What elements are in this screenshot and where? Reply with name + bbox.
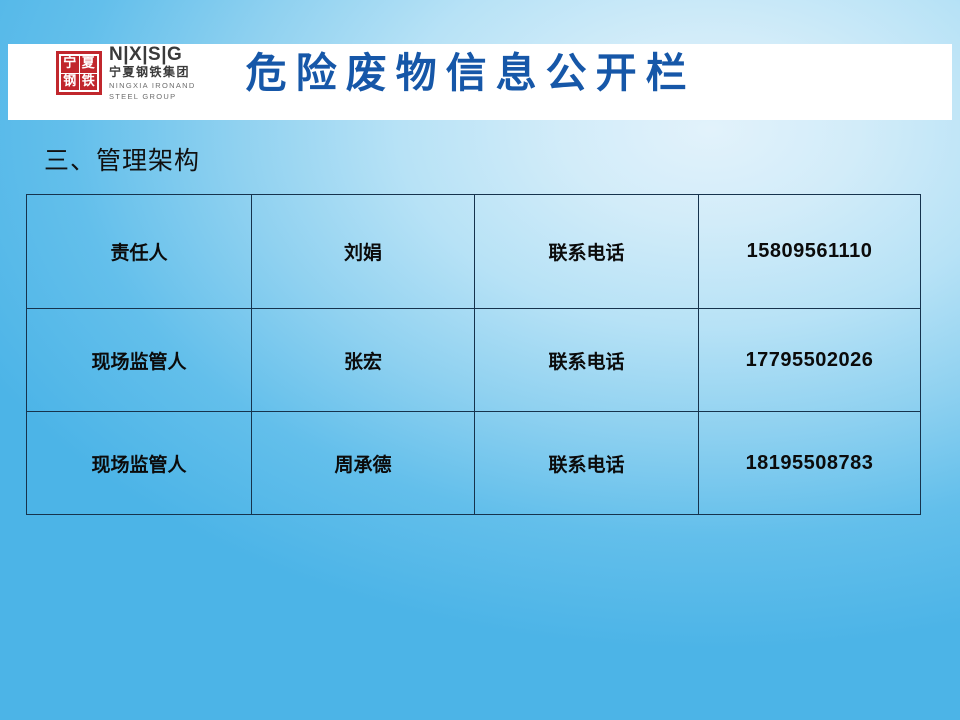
company-seal-icon: 宁 夏 钢 铁 (56, 51, 102, 95)
cell-role: 现场监管人 (27, 309, 252, 412)
section-heading: 三、管理架构 (44, 144, 200, 178)
cell-phone-label: 联系电话 (475, 412, 699, 515)
cell-role: 现场监管人 (27, 412, 252, 515)
logo-brand-english-line2: STEEL GROUP (109, 92, 196, 101)
cell-phone-number: 15809561110 (699, 195, 921, 309)
management-structure-table: 责任人 刘娟 联系电话 15809561110 现场监管人 张宏 联系电话 17… (26, 194, 921, 515)
cell-phone-number: 18195508783 (699, 412, 921, 515)
slide-canvas: 宁 夏 钢 铁 N|X|S|G 宁夏钢铁集团 NINGXIA IRONAND S… (0, 0, 960, 720)
table-row: 责任人 刘娟 联系电话 15809561110 (27, 195, 921, 309)
banner-content-row: 宁 夏 钢 铁 N|X|S|G 宁夏钢铁集团 NINGXIA IRONAND S… (8, 44, 952, 102)
table-row: 现场监管人 张宏 联系电话 17795502026 (27, 309, 921, 412)
cell-person: 刘娟 (252, 195, 475, 309)
cell-phone-label: 联系电话 (475, 195, 699, 309)
table-row: 现场监管人 周承德 联系电话 18195508783 (27, 412, 921, 515)
cell-role: 责任人 (27, 195, 252, 309)
seal-char-3: 钢 (61, 74, 79, 91)
cell-phone-label: 联系电话 (475, 309, 699, 412)
logo-brand-latin: N|X|S|G (109, 45, 196, 64)
banner-title: 危险废物信息公开栏 (246, 49, 696, 97)
seal-char-4: 铁 (80, 74, 98, 91)
logo-brand-english-line1: NINGXIA IRONAND (109, 81, 196, 90)
cell-person: 张宏 (252, 309, 475, 412)
seal-char-2: 夏 (80, 56, 98, 73)
cell-person: 周承德 (252, 412, 475, 515)
logo-brand-chinese: 宁夏钢铁集团 (109, 65, 196, 79)
logo-text-block: N|X|S|G 宁夏钢铁集团 NINGXIA IRONAND STEEL GRO… (109, 45, 196, 101)
header-banner: 宁 夏 钢 铁 N|X|S|G 宁夏钢铁集团 NINGXIA IRONAND S… (8, 44, 952, 120)
company-logo: 宁 夏 钢 铁 N|X|S|G 宁夏钢铁集团 NINGXIA IRONAND S… (56, 47, 196, 99)
seal-char-1: 宁 (61, 56, 79, 73)
cell-phone-number: 17795502026 (699, 309, 921, 412)
